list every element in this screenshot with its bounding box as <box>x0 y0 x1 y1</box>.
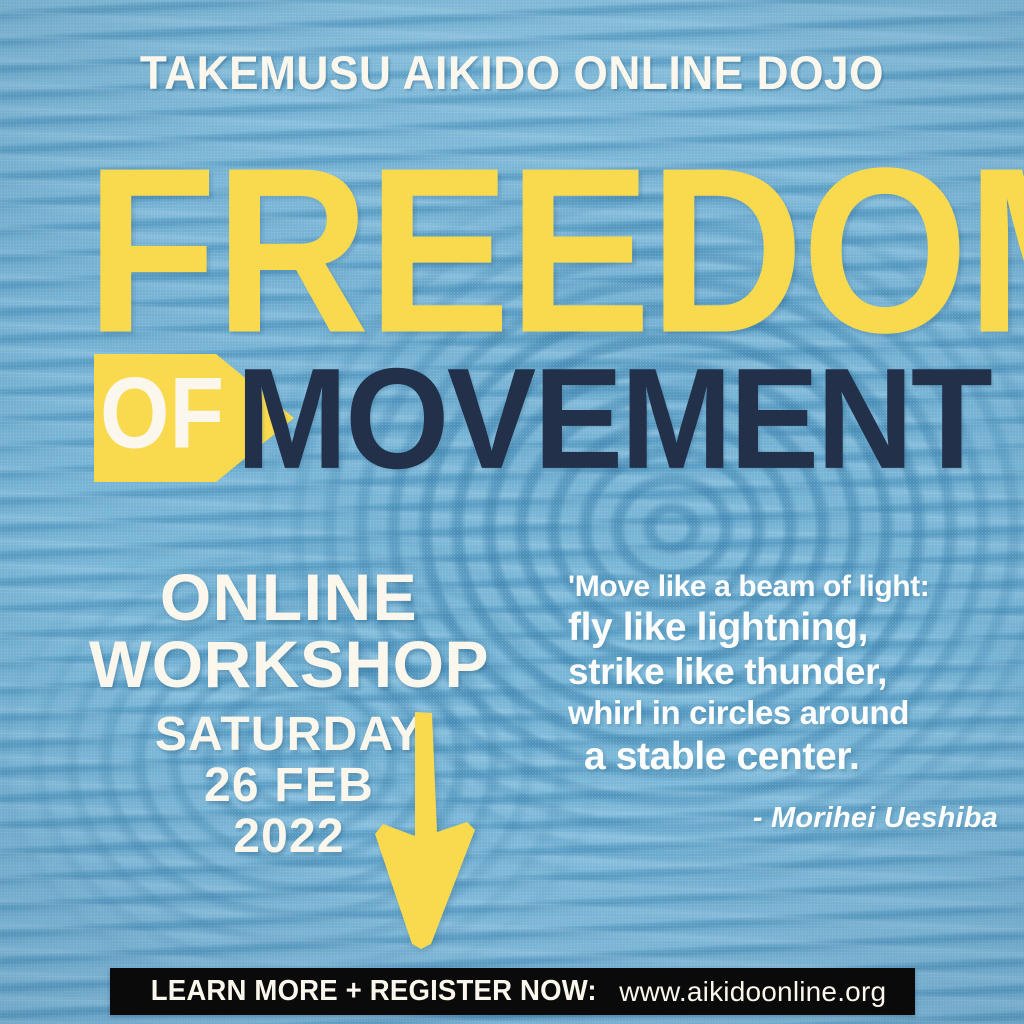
headline-of-label: OF <box>100 356 224 471</box>
quote-line-4: whirl in circles around <box>568 696 998 729</box>
quote-attribution: - Morihei Ueshiba <box>568 802 998 835</box>
arrow-down-icon <box>371 712 481 950</box>
event-title-line2: WORKSHOP <box>34 632 544 697</box>
quote-line-3: strike like thunder, <box>568 653 998 690</box>
event-title-line1: ONLINE <box>34 565 544 630</box>
headline-movement-label: MOVEMENT <box>236 348 990 491</box>
quote-line-1: 'Move like a beam of light: <box>568 572 998 602</box>
cta-label: LEARN MORE + REGISTER NOW: <box>150 975 596 1008</box>
cta-url[interactable]: www.aikidoonline.org <box>619 976 886 1008</box>
headline-secondary-row: OF MOVEMENT <box>86 352 916 492</box>
poster-canvas: TAKEMUSU AIKIDO ONLINE DOJO FREEDOM OF M… <box>0 0 1024 1024</box>
quote-line-2: fly like lightning, <box>568 608 998 647</box>
header-title: TAKEMUSU AIKIDO ONLINE DOJO <box>31 49 994 96</box>
quote-block: 'Move like a beam of light: fly like lig… <box>568 572 998 835</box>
quote-line-5: a stable center. <box>584 737 998 776</box>
headline-primary: FREEDOM <box>86 150 920 352</box>
cta-banner[interactable]: LEARN MORE + REGISTER NOW: www.aikidoonl… <box>110 968 915 1015</box>
